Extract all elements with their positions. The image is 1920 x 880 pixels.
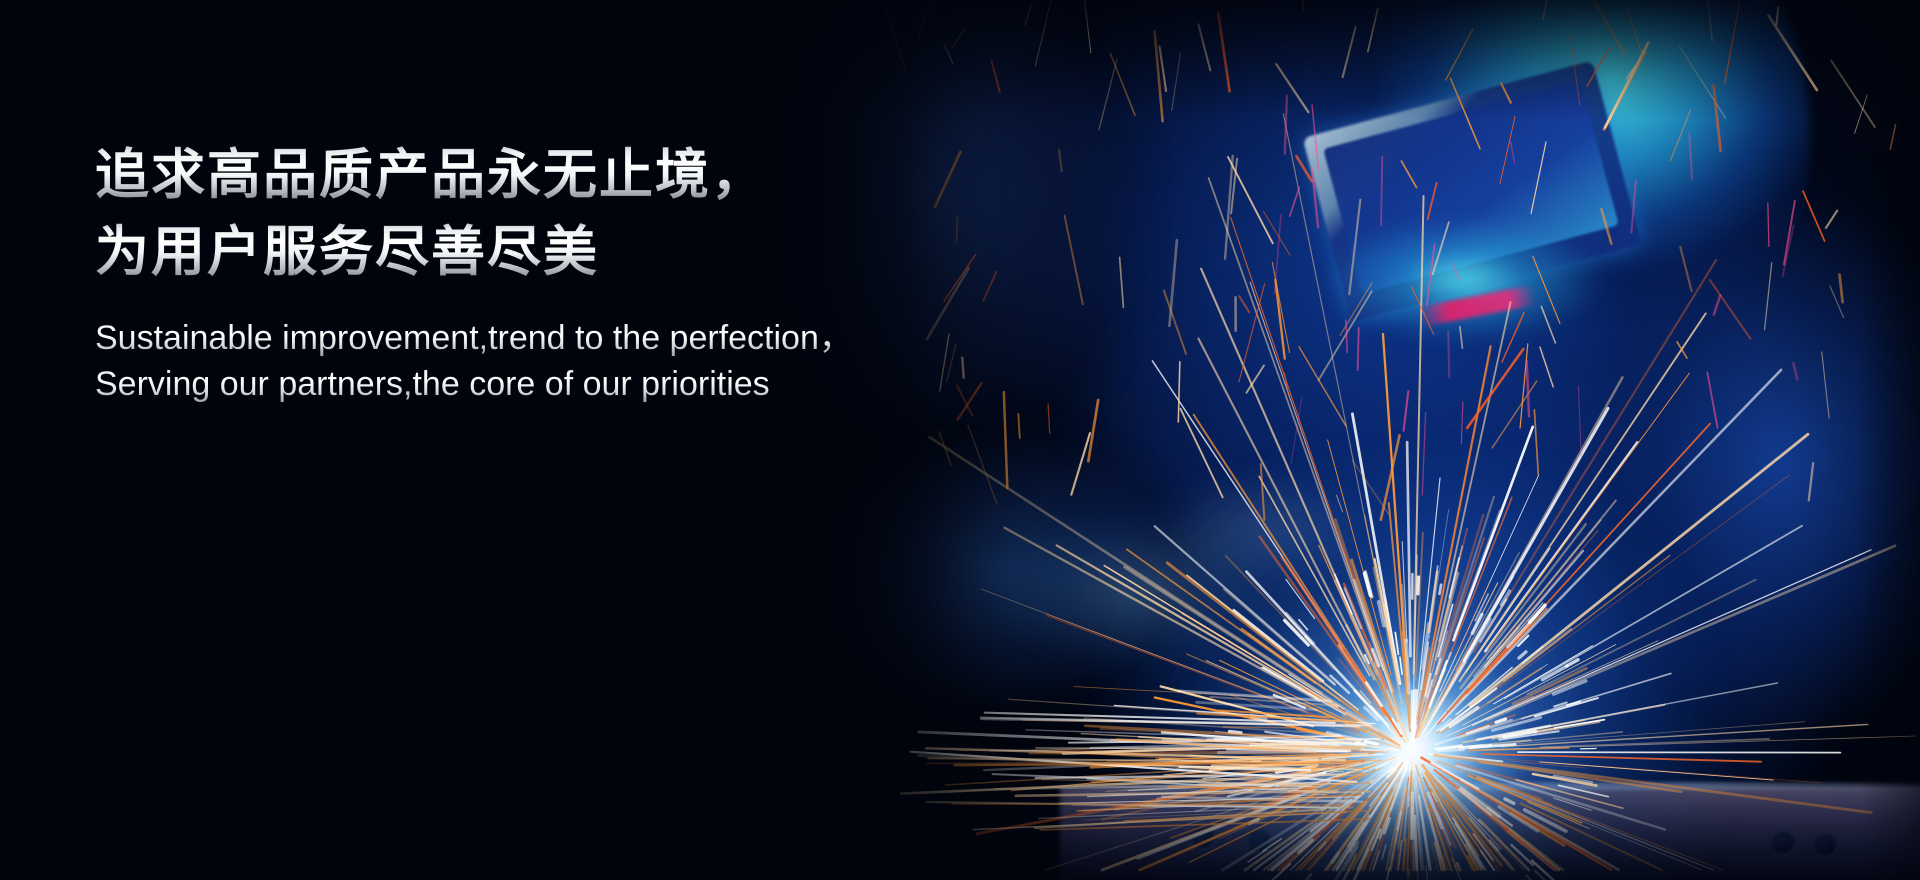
headline-cn-line-1: 追求高品质产品永无止境， — [95, 140, 995, 211]
headline-cn-line-2: 为用户服务尽善尽美 — [95, 217, 995, 288]
subtitle-en-line-1: Sustainable improvement,trend to the per… — [95, 315, 995, 361]
welding-photo — [0, 0, 1920, 880]
hero-banner: 追求高品质产品永无止境， 为用户服务尽善尽美 Sustainable impro… — [0, 0, 1920, 880]
photo-left-fade — [700, 0, 1120, 880]
banner-text-block: 追求高品质产品永无止境， 为用户服务尽善尽美 Sustainable impro… — [95, 140, 995, 407]
photo-right-fade — [1860, 0, 1920, 880]
subtitle-en-line-2: Serving our partners,the core of our pri… — [95, 361, 995, 407]
